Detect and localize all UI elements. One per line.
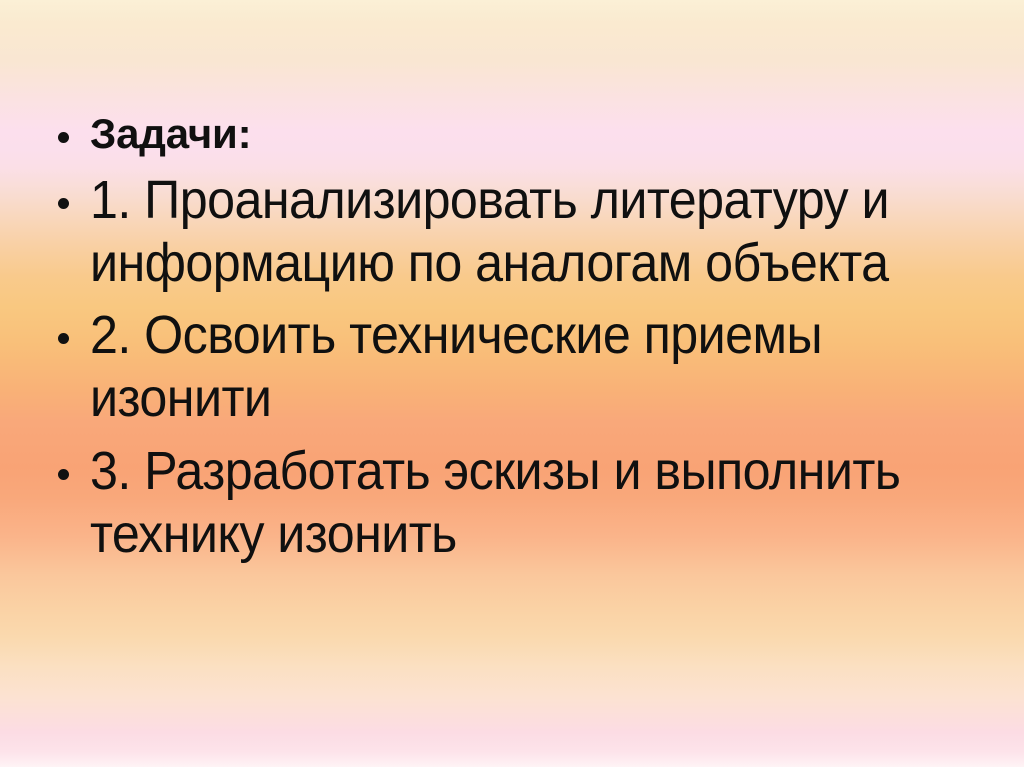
round-bullet-icon [58,469,69,480]
list-item-task-3[interactable]: 3. Разработать эскизы и выполнить техник… [58,440,988,566]
bullet-text-task-3: 3. Разработать эскизы и выполнить техник… [90,440,925,566]
round-bullet-icon [58,198,69,209]
bullet-text-heading: Задачи: [90,112,988,157]
slide-canvas: Задачи: 1. Проанализировать литературу и… [0,0,1024,767]
bullet-list: Задачи: 1. Проанализировать литературу и… [58,112,988,575]
round-bullet-icon [58,132,69,143]
bullet-text-task-2: 2. Освоить технические приемы изонити [90,304,925,430]
list-item-task-1[interactable]: 1. Проанализировать литературу и информа… [58,169,988,295]
bullet-text-task-1: 1. Проанализировать литературу и информа… [90,169,925,295]
list-item-heading[interactable]: Задачи: [58,112,988,157]
list-item-task-2[interactable]: 2. Освоить технические приемы изонити [58,304,988,430]
round-bullet-icon [58,333,69,344]
